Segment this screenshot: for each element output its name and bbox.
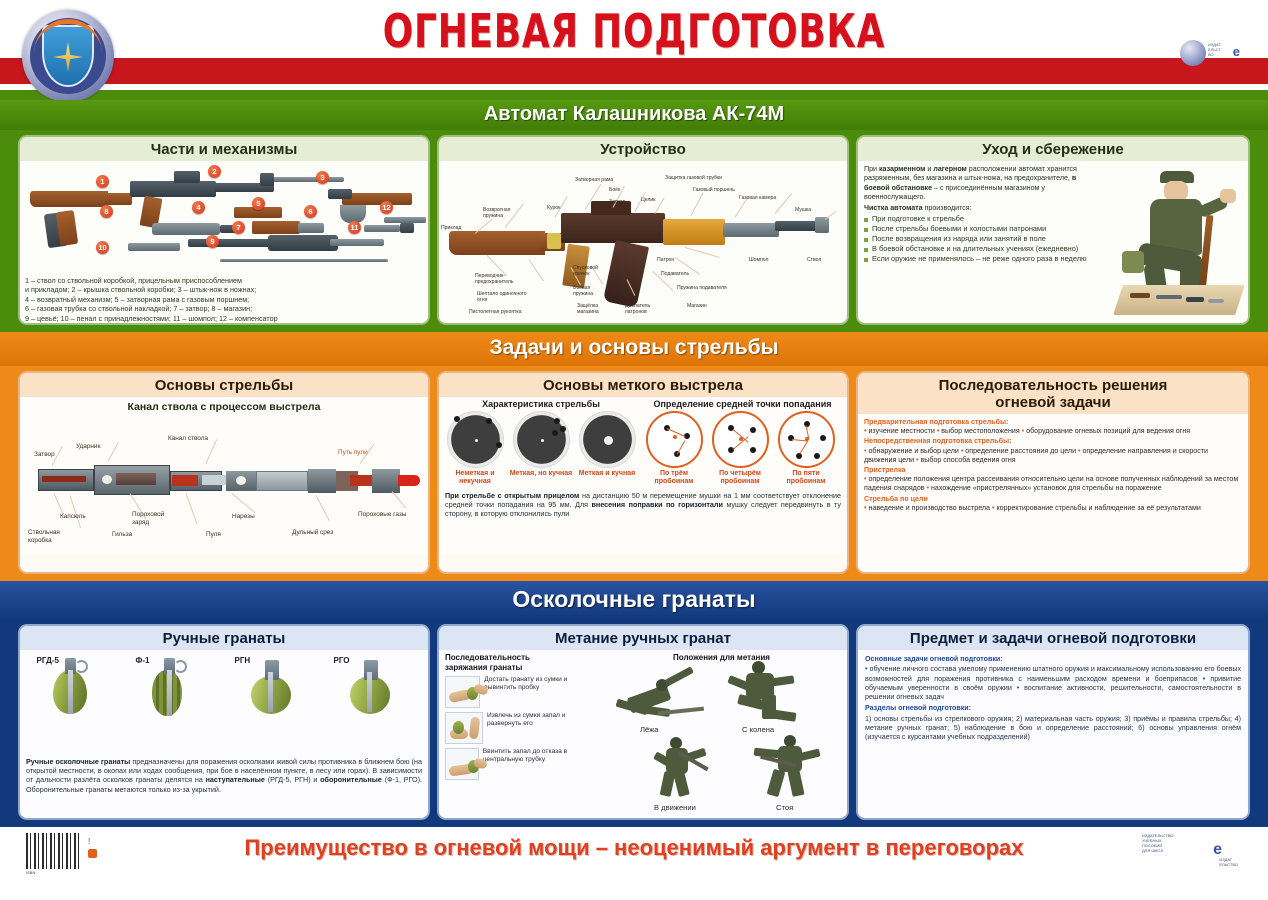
grenade-item: Ф-1 (136, 656, 214, 754)
poster: ОГНЕВАЯ ПОДГОТОВКА ИЗДАТЕЛЬСТВО e Автома… (0, 0, 1268, 900)
grenade-icon (350, 676, 390, 714)
step-text: Достать гранату из сумки и вывинтить про… (484, 676, 595, 692)
barrel-label: Нарезы (232, 513, 255, 520)
sequence-head: Стрельба по цели (864, 495, 1242, 504)
sequence-item: определение расстояния до цели (965, 447, 1076, 455)
header-red-band (0, 58, 1268, 84)
sequence-items: • обнаружение и выбор цели • определение… (864, 447, 1208, 464)
publisher-footer-logo-icon: ИЗДАТЕЛЬСТВОУЧЕБНЫХПОСОБИЙДЛЯ ШКОЛ e ИЗД… (1142, 831, 1238, 873)
grenade-item: РГН (235, 656, 313, 754)
soldier-illustration (1116, 165, 1244, 315)
throwing-content: Последовательность заряжания гранаты Дос… (439, 650, 847, 784)
subject-item: обучение личного состава умелому примене… (865, 665, 1241, 682)
target-ring (778, 411, 835, 468)
panel-subject-and-tasks: Предмет и задачи огневой подготовки Осно… (856, 624, 1250, 820)
group-title: Характеристика стрельбы (444, 399, 639, 409)
device-label: Затвор (609, 199, 625, 205)
panel-body: Предварительная подготовка стрельбы: • и… (858, 414, 1248, 572)
panel-title: Уход и сбережение (858, 137, 1248, 161)
device-label: Пружина подавателя (677, 285, 727, 291)
care-text: При казарменном и лагерном расположении … (858, 161, 1104, 321)
panel-body: Приклад Возвратная пружина Курок Затворн… (439, 161, 847, 321)
barrel-label: Канал ствола (168, 435, 208, 442)
device-label: Боёк (609, 187, 620, 193)
subject-body-1: • обучение личного состава умелому приме… (865, 665, 1241, 701)
arming-title-line1: Последовательность (445, 653, 530, 662)
device-label: Ствол (807, 257, 821, 263)
device-label: Подаватель (661, 271, 689, 277)
arming-sequence: Последовательность заряжания гранаты Дос… (445, 653, 595, 784)
target-label: Неметкая и некучная (444, 470, 507, 487)
sequence-item: нахождение «пристрелянных» установок для… (931, 484, 1162, 492)
grenades-bold-b: наступательные (206, 775, 265, 784)
target-group-characteristics: Характеристика стрельбы Неметкая и некуч… (444, 399, 639, 487)
section-banner-grenades: Осколочные гранаты (0, 581, 1268, 619)
footer-slogan: Преимущество в огневой мощи – неоценимый… (0, 835, 1268, 861)
part-badge: 9 (206, 235, 219, 248)
grenades-description: Ручные осколочные гранаты предназначены … (20, 754, 428, 797)
device-label: Приклад (441, 225, 461, 231)
target-label: По четырём пробоинам (709, 470, 772, 487)
subject-head-2: Разделы огневой подготовки: (865, 704, 1241, 713)
panel-title: Устройство (439, 137, 847, 161)
position-label: В движении (654, 803, 696, 812)
device-label: Затворная рама (575, 177, 613, 183)
step-illustration (445, 748, 479, 780)
barrel-label: Ствольная коробка (28, 529, 72, 544)
barrel-label: Пороховые газы (358, 511, 408, 519)
target-label: По пяти пробоинам (775, 470, 838, 487)
grenades-row: РГД-5 Ф-1 РГН (20, 650, 428, 754)
device-label: Мушка (795, 207, 811, 213)
step-text: Извлечь из сумки запал и развернуть его (487, 712, 595, 728)
section-banner-ak74m: Автомат Калашникова АК-74М (0, 100, 1268, 130)
device-label: Спусковой крючок (573, 265, 607, 277)
care-bold-lager: лагерном (933, 165, 966, 173)
target-disk (579, 411, 636, 468)
barrel-label: Путь пули (338, 449, 368, 456)
barrel-label: Пуля (206, 531, 221, 538)
parts-diagram: 1 2 3 4 5 6 7 8 9 10 11 12 (24, 163, 424, 275)
barrel-label: Дульный срез (292, 529, 336, 537)
sequence-item: корректирование стрельбы и наблюдение за… (996, 504, 1200, 512)
panel-title-line2: огневой задачи (860, 394, 1246, 411)
panel-care-and-storage: Уход и сбережение При казарменном и лаге… (856, 135, 1250, 325)
sequence-head: Непосредственная подготовка стрельбы: (864, 437, 1242, 446)
barrel-label: Ударник (76, 443, 100, 450)
sequence-item: изучение местности (868, 427, 934, 435)
part-badge: 11 (348, 221, 361, 234)
device-label: Переводчик-предохранитель (475, 273, 531, 285)
barrel-subtitle: Канал ствола с процессом выстрела (20, 397, 428, 413)
part-badge: 8 (100, 205, 113, 218)
part-badge: 7 (232, 221, 245, 234)
note-bold-a: При стрельбе с открытым прицелом (445, 491, 579, 500)
position-label: С колена (742, 725, 774, 734)
care-clean-head: Чистка автомата (864, 204, 923, 212)
sequence-head: Предварительная подготовка стрельбы: (864, 418, 1242, 427)
parts-key-line: 6 – газовая трубка со ствольной накладко… (25, 304, 423, 313)
parts-key: 1 – ствол со ствольной коробкой, прицель… (20, 275, 428, 323)
panel-body: Канал ствола с процессом выстрела (20, 397, 428, 555)
section-row-grenades: Ручные гранаты РГД-5 Ф-1 (0, 619, 1268, 827)
grenade-icon (152, 670, 182, 716)
poster-header: ОГНЕВАЯ ПОДГОТОВКА ИЗДАТЕЛЬСТВО e (0, 0, 1268, 100)
panel-title: Последовательность решения огневой задач… (858, 373, 1248, 414)
target-item: Неметкая и некучная (444, 411, 507, 487)
grenade-item: РГО (334, 656, 412, 754)
device-label: Дослатель патронов (625, 303, 667, 315)
target-group-mean-point: Определение средней точки попадания (643, 399, 843, 487)
throwing-positions: Положения для метания Лёжа (600, 653, 843, 784)
device-label: Возвратная пружина (483, 207, 525, 219)
panel-title: Части и механизмы (20, 137, 428, 161)
panel-title: Метание ручных гранат (439, 626, 847, 650)
grenades-bold-a: Ручные осколочные гранаты (26, 757, 130, 766)
barrel-label: Пороховой заряд (132, 511, 180, 526)
device-label: Патрон (657, 257, 674, 263)
care-bullet: В боевой обстановке и на длительных учен… (864, 244, 1100, 254)
device-label: Курок (547, 205, 560, 211)
panel-title: Ручные гранаты (20, 626, 428, 650)
target-ring (712, 411, 769, 468)
grenade-item: РГД-5 (37, 656, 115, 754)
care-clean-rest: производится: (923, 204, 972, 212)
figure-kneeling (722, 661, 808, 723)
arming-step: Ввинтить запал до отказа в центральную т… (445, 748, 595, 780)
target-disk (447, 411, 504, 468)
target-item: По четырём пробоинам (709, 411, 772, 487)
military-emblem-icon (22, 10, 114, 102)
panel-body: 1 2 3 4 5 6 7 8 9 10 11 12 1 – ствол со … (20, 163, 428, 323)
panel-fire-task-sequence: Последовательность решения огневой задач… (856, 371, 1250, 574)
part-badge: 1 (96, 175, 109, 188)
publisher-logo-icon: ИЗДАТЕЛЬСТВО e (1178, 36, 1242, 70)
part-badge: 4 (192, 201, 205, 214)
sequence-item: выбор местоположения (941, 427, 1019, 435)
part-badge: 5 (252, 197, 265, 210)
section-banner-tasks: Задачи и основы стрельбы (0, 332, 1268, 366)
care-bullet: После возвращения из наряда или занятий … (864, 234, 1100, 244)
care-bold-kazarm: казарменном (879, 165, 925, 173)
page-title: ОГНЕВАЯ ПОДГОТОВКА (139, 4, 1128, 58)
care-bullet: Если оружие не применялось – не реже одн… (864, 254, 1100, 264)
barrel-cutaway-diagram: Затвор Ударник Канал ствола Путь пули Ка… (20, 413, 428, 543)
position-label: Лёжа (640, 725, 659, 734)
sequence-item: выбор способа ведения огня (921, 456, 1016, 464)
panel-device: Устройство (437, 135, 849, 325)
parts-key-line: 1 – ствол со ствольной коробкой, прицель… (25, 276, 423, 285)
part-badge: 6 (304, 205, 317, 218)
barrel-label: Капсюль (60, 513, 86, 520)
target-ring (646, 411, 703, 468)
device-label: Магазин (687, 303, 707, 309)
sequence-item: оборудование огневых позиций для ведения… (1026, 427, 1190, 435)
sequence-head: Пристрелка (864, 466, 1242, 475)
parts-key-line: 9 – цевьё; 10 – пенал с принадлежностями… (25, 314, 423, 323)
target-label: Меткая и кучная (576, 470, 639, 478)
barcode-caption: ISBN (26, 870, 35, 875)
panel-body: Основные задачи огневой подготовки: • об… (858, 650, 1248, 818)
arming-title: Последовательность заряжания гранаты (445, 653, 595, 673)
device-label: Пистолетная рукоятка (469, 309, 522, 315)
device-label: Газовая камера (739, 195, 776, 201)
part-badge: 10 (96, 241, 109, 254)
subject-content: Основные задачи огневой подготовки: • об… (858, 650, 1248, 743)
grenades-text-2: (РГД-5, РГН) и (265, 775, 320, 784)
group-title: Определение средней точки попадания (643, 399, 843, 409)
step-text: Ввинтить запал до отказа в центральную т… (483, 748, 595, 764)
panel-body: При казарменном и лагерном расположении … (858, 161, 1248, 321)
section-row-ak74m: Части и механизмы (0, 130, 1268, 332)
sequence-item: обнаружение и выбор цели (868, 447, 958, 455)
care-bullet: После стрельбы боевыми и холостыми патро… (864, 224, 1100, 234)
barrel-label: Затвор (34, 451, 55, 458)
panel-title: Основы меткого выстрела (439, 373, 847, 397)
subject-head-1: Основные задачи огневой подготовки: (865, 655, 1241, 664)
device-diagram: Приклад Возвратная пружина Курок Затворн… (439, 161, 847, 321)
poster-footer: ISBN ! Преимущество в огневой мощи – нео… (0, 827, 1268, 879)
parts-key-line: и прикладом; 2 – крышка ствольной коробк… (25, 285, 423, 294)
accurate-shot-note: При стрельбе с открытым прицелом на дист… (439, 487, 847, 522)
care-bullet: При подготовке к стрельбе (864, 214, 1100, 224)
grenade-icon (251, 676, 291, 714)
part-badge: 12 (380, 201, 393, 214)
subject-body-2: 1) основы стрельбы из стрелкового оружия… (865, 715, 1241, 742)
section-row-tasks: Основы стрельбы Канал ствола с процессом… (0, 366, 1268, 581)
target-item: По трём пробоинам (643, 411, 706, 487)
arming-step: Извлечь из сумки запал и развернуть его (445, 712, 595, 744)
sequence-items: • наведение и производство выстрела • ко… (864, 504, 1201, 512)
arming-title-line2: заряжания гранаты (445, 663, 522, 672)
panel-parts-and-mechanisms: Части и механизмы (18, 135, 430, 325)
panel-title-line1: Последовательность решения (860, 377, 1246, 394)
figure-prone (610, 667, 706, 723)
figure-moving (648, 737, 722, 799)
grenades-bold-c: оборонительные (320, 775, 382, 784)
target-label: По трём пробоинам (643, 470, 706, 487)
position-label: Стоя (776, 803, 793, 812)
target-item: Меткая, но кучная (510, 411, 573, 487)
panel-body: Последовательность заряжания гранаты Дос… (439, 650, 847, 818)
targets-row: Характеристика стрельбы Неметкая и некуч… (439, 397, 847, 487)
device-label: Шептало одиночного огня (477, 291, 535, 303)
sequence-items: • определение положения центра рассеиван… (864, 475, 1238, 492)
device-label: Защитка газовой трубки (665, 175, 722, 181)
panel-title: Предмет и задачи огневой подготовки (858, 626, 1248, 650)
device-label: Боевая пружина (573, 285, 607, 297)
panel-accurate-shot: Основы меткого выстрела Характеристика с… (437, 371, 849, 574)
panel-body: РГД-5 Ф-1 РГН (20, 650, 428, 818)
part-badge: 2 (208, 165, 221, 178)
target-item: Меткая и кучная (576, 411, 639, 487)
parts-key-line: 4 – возвратный механизм; 5 – затворная р… (25, 295, 423, 304)
note-bold-b: внесения поправки по горизонтали (592, 500, 723, 509)
step-illustration (445, 676, 480, 708)
step-illustration (445, 712, 483, 744)
panel-hand-grenades: Ручные гранаты РГД-5 Ф-1 (18, 624, 430, 820)
target-label: Меткая, но кучная (510, 470, 573, 478)
sequence-items: • изучение местности • выбор местоположе… (864, 427, 1190, 435)
figure-standing (750, 735, 830, 799)
target-item: По пяти пробоинам (775, 411, 838, 487)
panel-shooting-basics: Основы стрельбы Канал ствола с процессом… (18, 371, 430, 574)
target-disk (513, 411, 570, 468)
panel-grenade-throwing: Метание ручных гранат Последовательность… (437, 624, 849, 820)
grenade-icon (53, 670, 87, 714)
barrel-label: Гильза (112, 531, 132, 538)
device-label: Защёлка магазина (577, 303, 617, 315)
part-badge: 3 (316, 171, 329, 184)
panel-body: Характеристика стрельбы Неметкая и некуч… (439, 397, 847, 555)
arming-step: Достать гранату из сумки и вывинтить про… (445, 676, 595, 708)
sequence-item: наведение и производство выстрела (868, 504, 990, 512)
panel-title: Основы стрельбы (20, 373, 428, 397)
header-green-strip (0, 90, 1268, 100)
device-label: Шомпол (749, 257, 768, 263)
device-label: Газовый поршень (693, 187, 735, 193)
device-label: Целик (641, 197, 655, 203)
sequence-list: Предварительная подготовка стрельбы: • и… (858, 414, 1248, 513)
